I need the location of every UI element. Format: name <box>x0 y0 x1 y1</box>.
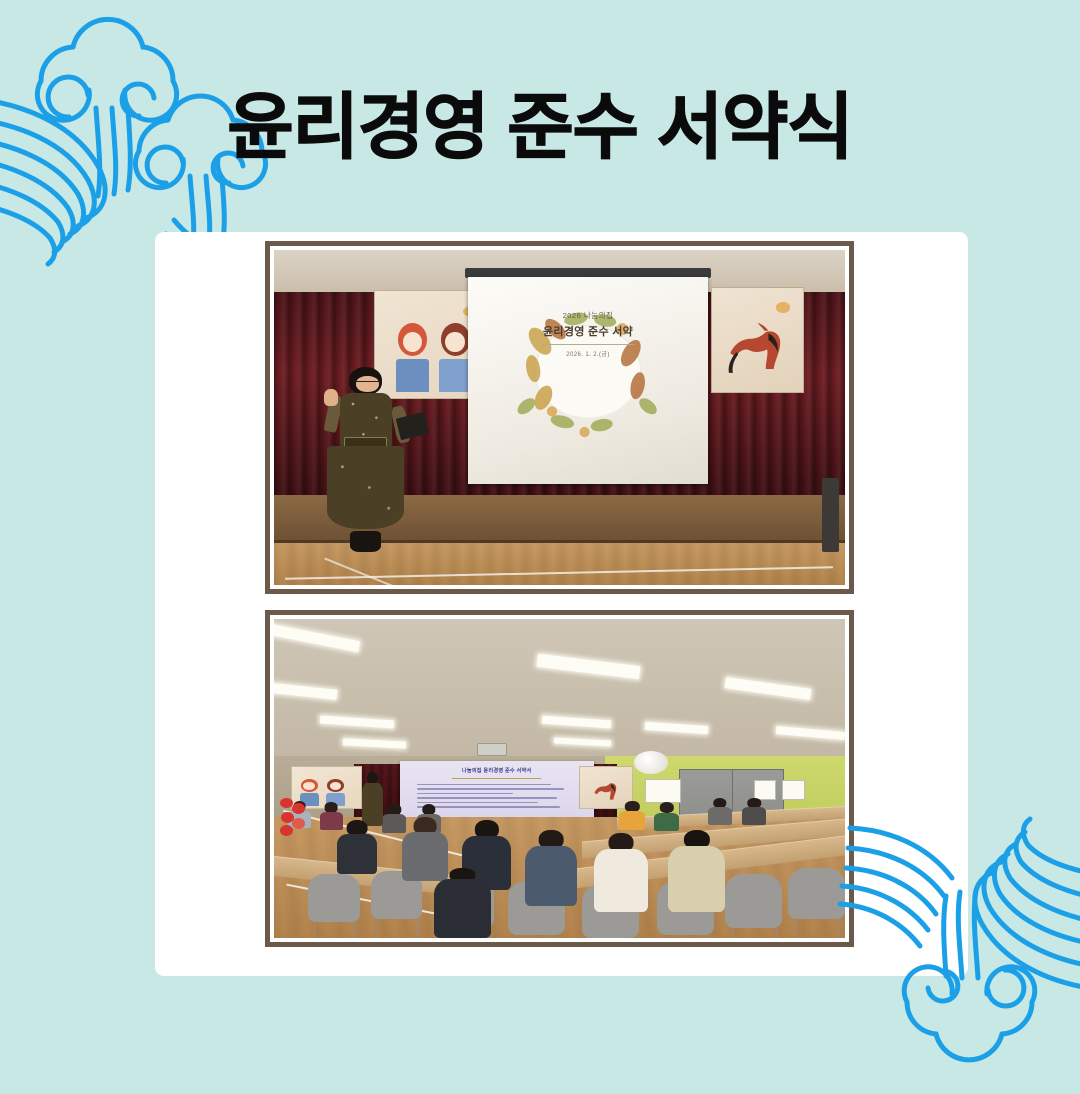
presenter-skirt <box>327 446 405 529</box>
presenter-boots <box>350 531 381 551</box>
photo-card: 사 <box>155 232 968 976</box>
photo-pledge-stage: 사 <box>274 250 845 585</box>
wall-notice <box>645 779 681 803</box>
attendee <box>708 798 732 825</box>
chair <box>308 874 359 922</box>
floor-court-line <box>285 566 833 579</box>
glasses-icon <box>356 381 380 386</box>
attendee <box>742 798 766 825</box>
photo-frame-pledge-stage[interactable]: 사 <box>265 241 854 594</box>
attendee <box>668 830 725 913</box>
photo-frame-seminar-room[interactable]: 나눔의집 윤리경영 준수 서약서 <box>265 610 854 947</box>
attendee <box>594 833 648 913</box>
screen-line-1: 2026 나눔의집 <box>468 310 708 321</box>
red-horse-banner <box>711 287 804 393</box>
ceiling-projector <box>477 743 508 756</box>
screen-divider <box>542 344 633 345</box>
chair <box>788 868 845 919</box>
presenter-raising-hand <box>317 367 414 551</box>
attendee <box>337 820 377 874</box>
attendee <box>434 868 491 938</box>
screen-title: 나눔의집 윤리경영 준수 서약서 <box>400 767 594 774</box>
screen-body-lines <box>417 784 576 811</box>
screen-line-2: 윤리경영 준수 서약 <box>468 323 708 339</box>
page-title: 윤리경영 준수 서약식 <box>0 92 1080 165</box>
raised-hand <box>324 389 339 406</box>
banner-cloud-icon <box>776 302 791 312</box>
attendee <box>619 801 645 830</box>
floor-court-line <box>324 557 441 585</box>
horse-illustration-icon <box>725 319 791 383</box>
speaker-stand <box>822 478 839 552</box>
presenter <box>360 772 385 826</box>
projection-screen: 2026 나눔의집 윤리경영 준수 서약 2026. 1. 2.(금) <box>468 277 708 485</box>
attendee <box>525 830 576 907</box>
screen-underline <box>452 778 541 779</box>
chair <box>725 874 782 928</box>
balloon-decoration <box>280 798 309 839</box>
screen-text-block: 2026 나눔의집 윤리경영 준수 서약 2026. 1. 2.(금) <box>468 310 708 358</box>
paper-lantern <box>634 751 668 773</box>
wall-notice <box>782 780 805 800</box>
photo-seminar-room: 나눔의집 윤리경영 준수 서약서 <box>274 619 845 938</box>
screen-date: 2026. 1. 2.(금) <box>468 349 708 358</box>
attendee <box>654 802 680 831</box>
